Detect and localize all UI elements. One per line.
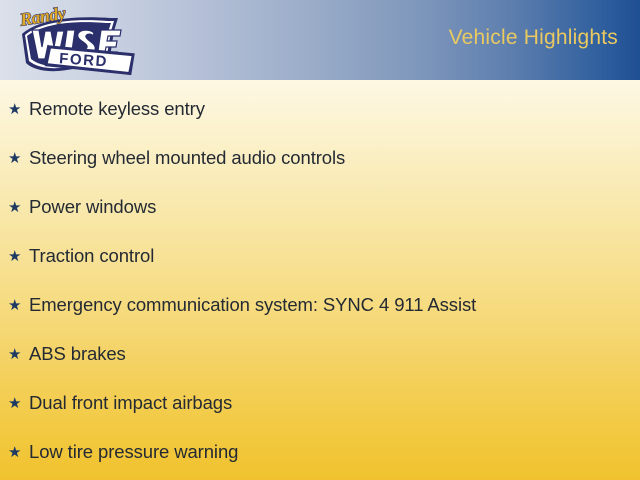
list-item-label: Dual front impact airbags <box>29 393 232 413</box>
randy-wise-ford-logo: Randy FORD <box>6 1 142 79</box>
list-item: ★ Emergency communication system: SYNC 4… <box>8 292 632 318</box>
header-banner: Randy FORD Vehicle Highlights <box>0 0 640 80</box>
list-item-label: Traction control <box>29 246 154 266</box>
star-bullet-icon: ★ <box>8 445 29 460</box>
list-item-label: Remote keyless entry <box>29 99 205 119</box>
list-item-label: Low tire pressure warning <box>29 442 238 462</box>
list-item-label: Steering wheel mounted audio controls <box>29 148 345 168</box>
star-bullet-icon: ★ <box>8 347 29 362</box>
star-bullet-icon: ★ <box>8 102 29 117</box>
star-bullet-icon: ★ <box>8 249 29 264</box>
list-item-label: Emergency communication system: SYNC 4 9… <box>29 295 476 315</box>
list-item: ★ Power windows <box>8 194 632 220</box>
star-bullet-icon: ★ <box>8 298 29 313</box>
list-item: ★ Low tire pressure warning <box>8 439 632 465</box>
star-bullet-icon: ★ <box>8 200 29 215</box>
star-bullet-icon: ★ <box>8 151 29 166</box>
svg-text:FORD: FORD <box>59 50 109 70</box>
star-bullet-icon: ★ <box>8 396 29 411</box>
list-item-label: Power windows <box>29 197 156 217</box>
list-item: ★ Steering wheel mounted audio controls <box>8 145 632 171</box>
list-item-label: ABS brakes <box>29 344 126 364</box>
list-item: ★ Traction control <box>8 243 632 269</box>
vehicle-highlights-list: ★ Remote keyless entry ★ Steering wheel … <box>0 80 640 480</box>
list-item: ★ Remote keyless entry <box>8 96 632 122</box>
page-title: Vehicle Highlights <box>449 26 618 50</box>
vehicle-highlights-slide: Randy FORD Vehicle Highlights ★ Remote k… <box>0 0 640 480</box>
list-item: ★ ABS brakes <box>8 341 632 367</box>
list-item: ★ Dual front impact airbags <box>8 390 632 416</box>
